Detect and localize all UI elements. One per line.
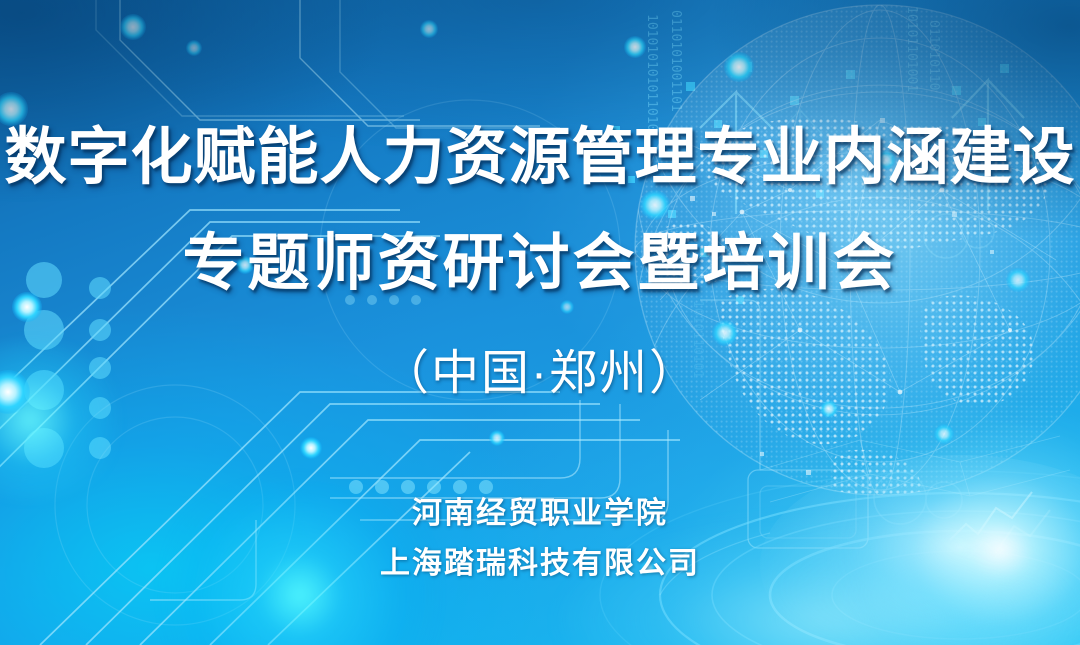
conference-banner: 101010101011010 0110101001101 1010110100… [0, 0, 1080, 645]
banner-title-line-1: 数字化赋能人力资源管理专业内涵建设 [0, 127, 1080, 189]
banner-title-line-2: 专题师资研讨会暨培训会 [0, 233, 1080, 295]
banner-content: 数字化赋能人力资源管理专业内涵建设 专题师资研讨会暨培训会 （中国·郑州） 河南… [0, 0, 1080, 645]
organizer-name-secondary: 上海踏瑞科技有限公司 [0, 549, 1080, 579]
organizer-name-primary: 河南经贸职业学院 [0, 499, 1080, 529]
banner-location: （中国·郑州） [0, 350, 1080, 398]
